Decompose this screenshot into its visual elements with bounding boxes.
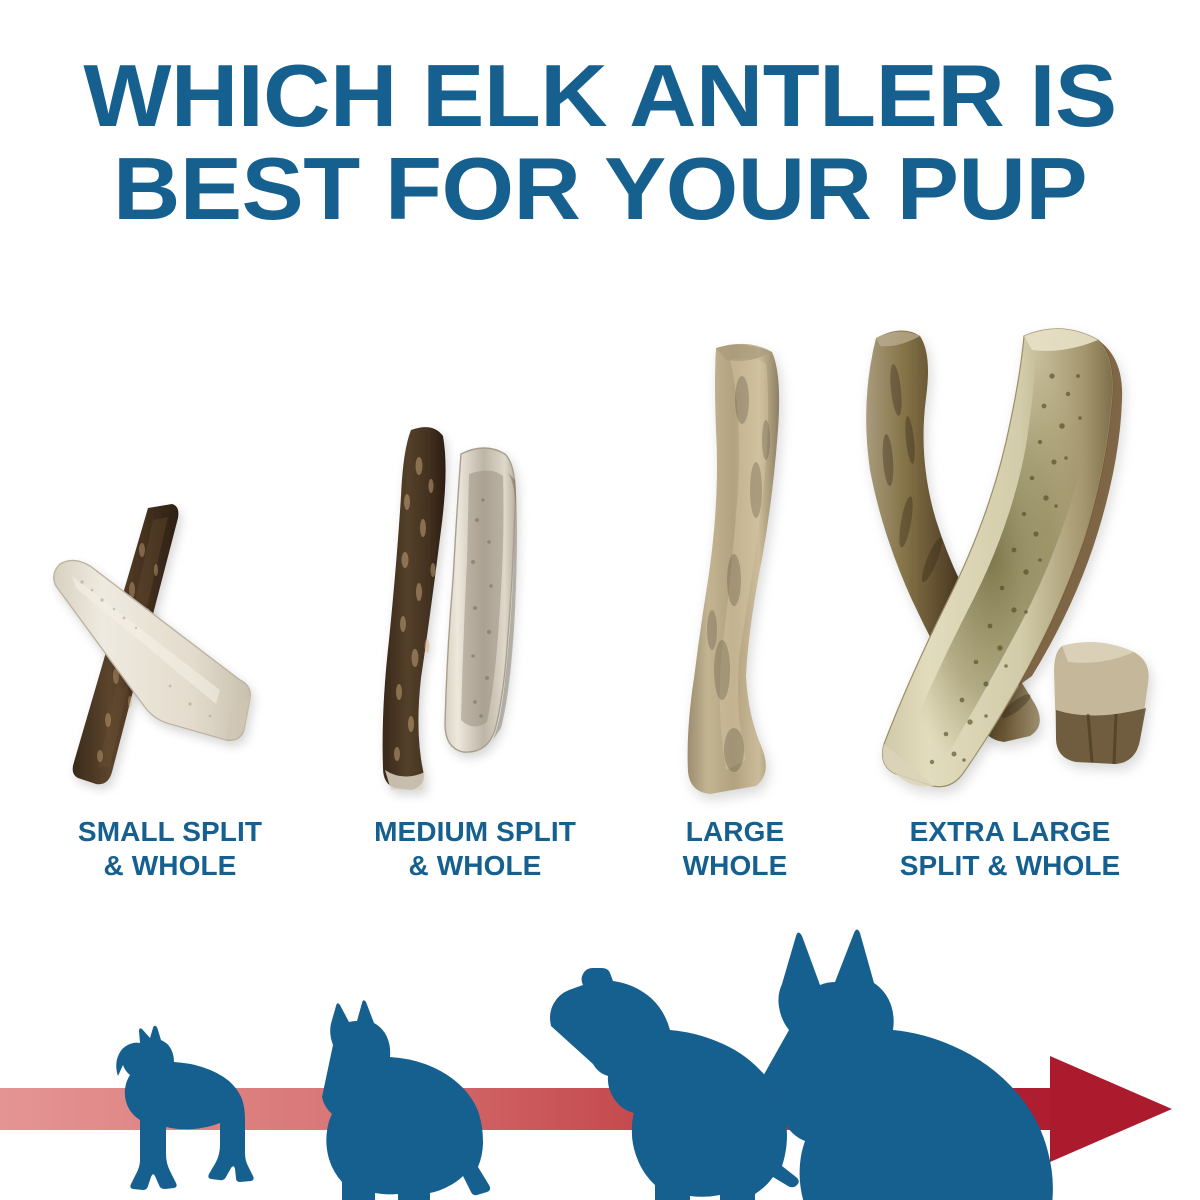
label-xlarge-line2: SPLIT & WHOLE <box>840 849 1180 883</box>
label-medium-line1: MEDIUM SPLIT <box>325 815 625 849</box>
label-small-line2: & WHOLE <box>15 849 325 883</box>
size-scale-arrow <box>0 900 1200 1200</box>
label-small-line1: SMALL SPLIT <box>15 815 325 849</box>
antler-piece-whole <box>688 344 780 794</box>
antler-small-svg <box>20 490 320 810</box>
antler-medium-svg <box>345 410 625 810</box>
label-medium: MEDIUM SPLIT & WHOLE <box>325 815 625 883</box>
label-medium-line2: & WHOLE <box>325 849 625 883</box>
label-large-line2: WHOLE <box>625 849 845 883</box>
antler-piece-whole-chunk <box>1054 642 1149 764</box>
label-large: LARGE WHOLE <box>625 815 845 883</box>
antler-xlarge-svg <box>840 310 1170 810</box>
product-image-large <box>630 330 860 810</box>
dog-silhouette-french-bulldog <box>116 1026 253 1190</box>
label-xlarge-line1: EXTRA LARGE <box>840 815 1180 849</box>
product-image-medium <box>345 410 625 810</box>
title-line-2: BEST FOR YOUR PUP <box>0 145 1200 232</box>
label-large-line1: LARGE <box>625 815 845 849</box>
product-image-xlarge <box>840 310 1170 810</box>
product-row <box>0 300 1200 810</box>
dog-silhouette-retriever <box>550 968 799 1200</box>
dog-silhouette-boxer <box>322 1000 490 1200</box>
arrow-head-icon <box>1050 1056 1172 1162</box>
size-scale-svg <box>0 900 1200 1200</box>
title-line-1: WHICH ELK ANTLER IS <box>0 52 1200 139</box>
label-small: SMALL SPLIT & WHOLE <box>15 815 325 883</box>
dog-silhouette-german-shepherd <box>762 930 1083 1200</box>
antler-piece-split <box>445 448 517 752</box>
product-image-small <box>20 490 320 810</box>
label-xlarge: EXTRA LARGE SPLIT & WHOLE <box>840 815 1180 883</box>
infographic-canvas: WHICH ELK ANTLER IS BEST FOR YOUR PUP <box>0 0 1200 1200</box>
antler-large-svg <box>630 330 860 810</box>
page-title: WHICH ELK ANTLER IS BEST FOR YOUR PUP <box>0 52 1200 232</box>
antler-piece-whole <box>383 427 446 790</box>
